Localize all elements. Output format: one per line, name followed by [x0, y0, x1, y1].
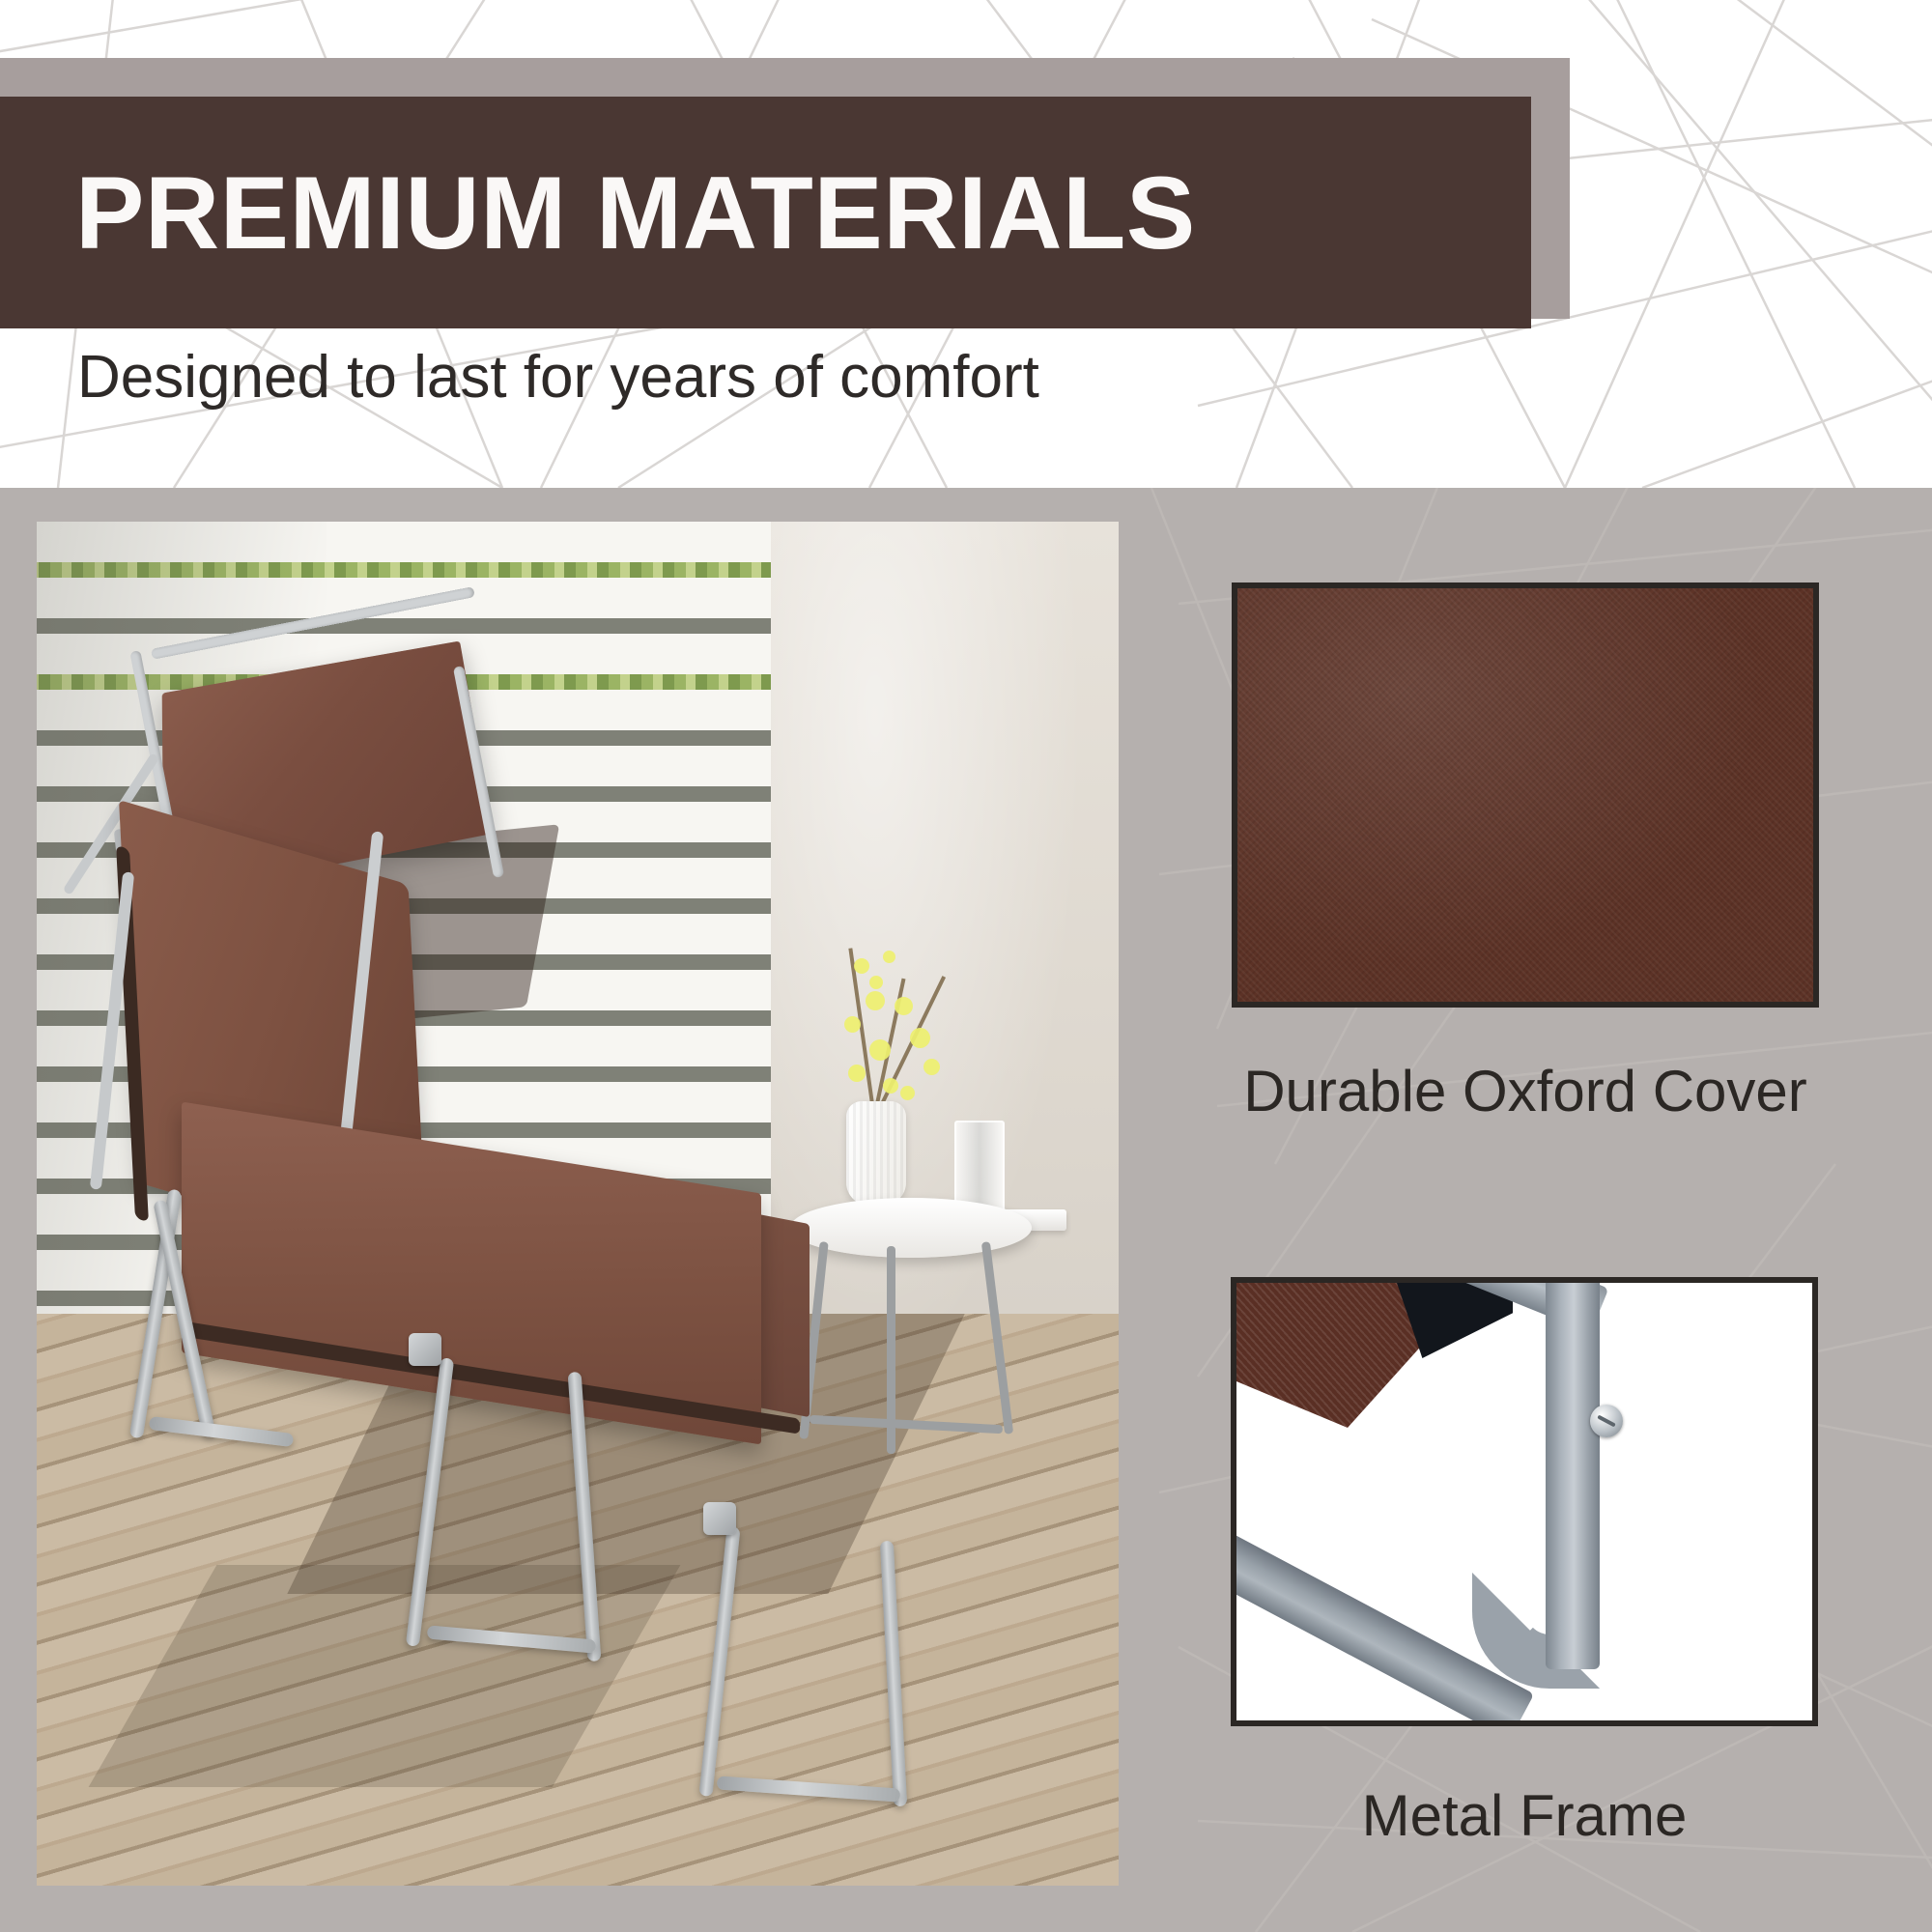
infographic-root: PREMIUM MATERIALS Designed to last for y…: [0, 0, 1932, 1932]
frame-tube-vertical: [1546, 1283, 1600, 1669]
metal-frame-label: Metal Frame: [1231, 1782, 1818, 1849]
adjustment-hinge: [703, 1502, 736, 1535]
oxford-fabric-texture: [1237, 588, 1813, 1002]
hero-product-photo: [37, 522, 1119, 1886]
oxford-cover-label: Durable Oxford Cover: [1232, 1058, 1819, 1124]
page-subtitle: Designed to last for years of comfort: [77, 343, 1039, 412]
white-vase: [846, 1101, 906, 1206]
oxford-cover-swatch-card: [1232, 582, 1819, 1008]
screw-icon: [1590, 1405, 1623, 1437]
metal-frame-closeup-card: [1231, 1277, 1818, 1726]
title-banner: PREMIUM MATERIALS: [0, 97, 1531, 328]
page-title: PREMIUM MATERIALS: [75, 97, 1196, 328]
adjustment-hinge: [409, 1333, 441, 1366]
